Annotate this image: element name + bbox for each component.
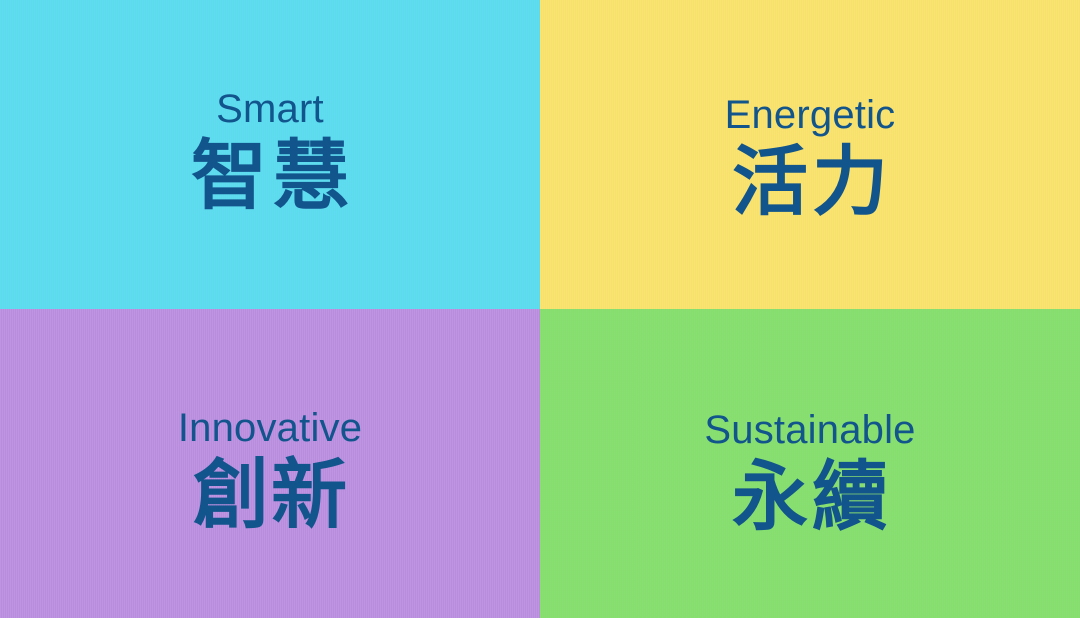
label-stack-energetic: Energetic 活力	[725, 94, 896, 220]
label-stack-sustainable: Sustainable 永續	[704, 409, 915, 535]
quadrant-smart[interactable]: Smart 智慧	[0, 0, 540, 309]
label-en-smart: Smart	[216, 88, 324, 130]
quadrant-innovative[interactable]: Innovative 創新	[0, 309, 540, 618]
label-stack-smart: Smart 智慧	[185, 88, 355, 214]
label-stack-innovative: Innovative 創新	[178, 407, 362, 533]
brand-values-grid: Smart 智慧 Energetic 活力 Innovative 創新 Sust…	[0, 0, 1080, 618]
label-en-sustainable: Sustainable	[704, 409, 915, 451]
quadrant-sustainable[interactable]: Sustainable 永續	[540, 309, 1080, 618]
label-en-energetic: Energetic	[725, 94, 896, 136]
quadrant-energetic[interactable]: Energetic 活力	[540, 0, 1080, 309]
label-zh-sustainable: 永續	[728, 459, 892, 535]
label-en-innovative: Innovative	[178, 407, 362, 449]
label-zh-energetic: 活力	[728, 144, 892, 220]
label-zh-innovative: 創新	[191, 457, 349, 533]
label-zh-smart: 智慧	[185, 138, 355, 214]
